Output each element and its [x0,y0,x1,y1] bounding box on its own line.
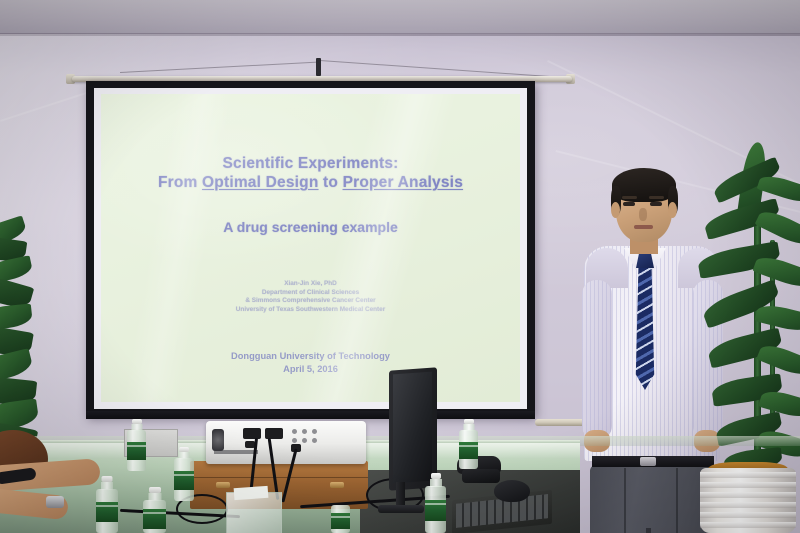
water-bottle [459,419,478,469]
presentation-slide: Scientific Experiments: From Optimal Des… [101,94,520,402]
room-ceiling [0,0,800,34]
slide-title-prefix: From [158,174,202,191]
projector-button[interactable] [302,429,307,434]
screen-hook [316,58,321,76]
bottle-label [174,471,194,490]
projector-lens [212,429,224,451]
pot-ring [700,522,796,528]
projector-button[interactable] [292,429,297,434]
stapler[interactable] [462,469,500,483]
projector-port [243,428,261,439]
monitor-screen [393,372,432,484]
paper-sheet [234,486,269,500]
plant-pot [700,468,796,533]
slide-title-underlined-a: Optimal Design [202,174,318,191]
bottle-label [96,502,118,522]
bottle-label-text [425,503,446,505]
presenter-eye-left [623,202,635,206]
pot-ring [700,502,796,508]
presenter-eye-right [650,202,662,206]
projector-label [214,450,258,454]
presenter-nose [639,208,647,221]
slide-title-middle: to [319,174,343,191]
foreground-wristwatch [46,496,64,508]
screen-projection-surface: Scientific Experiments: From Optimal Des… [101,94,520,402]
presenter-brow-left [622,196,637,199]
bottle-label-text [96,505,118,507]
bottle-label-text [127,445,146,447]
screen-white-mat: Scientific Experiments: From Optimal Des… [94,88,527,409]
slide-affiliation-1: Department of Clinical Sciences [101,289,520,298]
projector-button[interactable] [302,438,307,443]
box-handle-left [216,482,230,488]
water-bottle [174,447,194,501]
water-bottle [127,419,146,471]
trouser-inseam [646,528,651,533]
computer-mouse[interactable] [494,480,530,502]
presenter-arm-left [582,280,612,440]
slide-title-underlined-b: Proper Analysis [343,174,463,191]
slide-author-name: Xian-Jin Xie, PhD [101,280,520,289]
tie-knot [636,254,654,268]
bottle-label-text [143,512,166,514]
slide-title: Scientific Experiments: From Optimal Des… [101,154,520,192]
water-bottle [331,505,350,533]
bottle-label-text [174,474,194,476]
slide-subtitle: A drug screening example [101,219,520,235]
bottle-label [127,442,146,460]
water-bottle [143,487,166,533]
projector [206,421,366,464]
slide-title-line1: Scientific Experiments: [101,154,520,173]
projector-button[interactable] [292,438,297,443]
presenter-mouth [634,225,653,229]
bottle-label [331,513,350,529]
photo-scene: Scientific Experiments: From Optimal Des… [0,0,800,533]
presenter-ear-left [611,202,620,218]
screen-bottom-bar [86,411,535,419]
water-bottle [96,476,118,533]
bottle-label [425,500,446,521]
projection-screen: Scientific Experiments: From Optimal Des… [86,81,535,417]
slide-author-block: Xian-Jin Xie, PhD Department of Clinical… [101,280,520,314]
monitor-base [378,505,424,513]
presenter-brow-right [649,196,664,199]
projector-port [265,428,283,439]
projector-button[interactable] [312,438,317,443]
slide-venue-block: Dongguan University of Technology April … [101,350,520,375]
water-bottle [425,473,446,533]
pot-ring [700,512,796,518]
pot-ring [700,492,796,498]
presenter-ear-right [668,202,677,218]
slide-title-line2: From Optimal Design to Proper Analysis [101,173,520,192]
bottle-label [143,509,166,529]
box-handle-right [330,482,344,488]
bottle-label-text [459,445,478,447]
projector-button[interactable] [312,429,317,434]
bottle-label [459,442,478,459]
slide-affiliation-3: University of Texas Southwestern Medical… [101,306,520,315]
pot-ring [700,482,796,488]
pot-ring [700,472,796,478]
plant-leaf [0,303,33,330]
bottle-label-text [331,516,350,518]
trouser-pleat [624,468,626,533]
belt-buckle [640,457,656,466]
slide-venue: Dongguan University of Technology [101,350,520,363]
box-seam [190,477,368,478]
potted-foliage-plant-left [0,222,60,452]
trouser-pleat [676,468,678,533]
slide-affiliation-2: & Simmons Comprehensive Cancer Center [101,297,520,306]
slide-date: April 5, 2016 [101,363,520,376]
